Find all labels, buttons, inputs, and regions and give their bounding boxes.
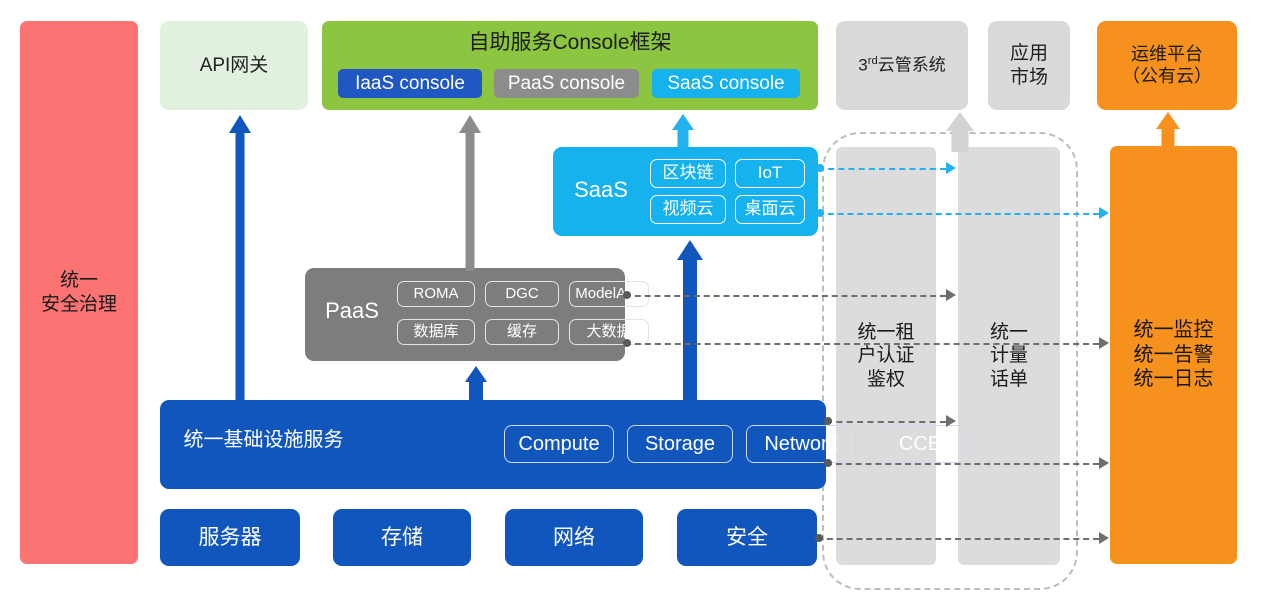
- paas-item-modelarts[interactable]: ModelArts: [569, 281, 649, 307]
- connector-arrowhead: [1099, 532, 1109, 544]
- paas-block-label: PaaS: [315, 298, 389, 325]
- arrow-ops-platform-up: [1156, 112, 1180, 148]
- connector-dot: [824, 417, 832, 425]
- infra-item-compute[interactable]: Compute: [504, 425, 614, 463]
- connector-dot: [816, 164, 824, 172]
- saas-item-iot[interactable]: IoT: [735, 159, 805, 188]
- arrow-shared-to-third-party: [946, 112, 974, 152]
- self-service-console-frame: 自助服务Console框架 IaaS console PaaS console …: [322, 21, 818, 110]
- saas-block-label: SaaS: [565, 177, 637, 204]
- dashed-saas-to-metering: [818, 168, 946, 170]
- unified-security-governance-panel: 统一 安全治理: [20, 21, 138, 564]
- resource-box-network[interactable]: 网络: [505, 509, 643, 566]
- iaas-console-chip[interactable]: IaaS console: [338, 69, 482, 98]
- arrow-saas-to-console: [671, 114, 695, 150]
- resource-box-server[interactable]: 服务器: [160, 509, 300, 566]
- saas-block: SaaS 区块链 IoT 视频云 桌面云: [553, 147, 818, 236]
- app-market-label: 应用 市场: [1010, 42, 1048, 88]
- connector-arrowhead: [946, 162, 956, 174]
- architecture-diagram: 统一 安全治理 API网关 自助服务Console框架 IaaS console…: [0, 0, 1265, 605]
- connector-arrowhead: [946, 415, 956, 427]
- api-gateway-box: API网关: [160, 21, 308, 110]
- connector-dot: [816, 209, 824, 217]
- unified-infrastructure-label: 统一基础设施服务: [176, 428, 351, 452]
- saas-item-desktop-cloud[interactable]: 桌面云: [735, 195, 805, 224]
- ops-platform-box: 运维平台 （公有云）: [1097, 21, 1237, 110]
- unified-monitoring-label: 统一监控 统一告警 统一日志: [1134, 318, 1214, 391]
- ops-platform-label: 运维平台 （公有云）: [1122, 44, 1212, 88]
- arrow-infra-to-api-gateway: [228, 115, 252, 403]
- dashed-paas-to-auth: [625, 295, 946, 297]
- infra-item-cce[interactable]: CCE: [869, 425, 971, 463]
- resource-box-security[interactable]: 安全: [677, 509, 817, 566]
- connector-dot: [815, 534, 823, 542]
- dashed-resources-to-ops: [817, 538, 1099, 540]
- third-party-cloud-mgmt-label: 3rd云管系统: [858, 55, 945, 76]
- paas-item-cache[interactable]: 缓存: [485, 319, 559, 345]
- saas-item-blockchain[interactable]: 区块链: [650, 159, 726, 188]
- arrow-infra-to-paas: [464, 366, 488, 402]
- unified-monitoring-panel: 统一监控 统一告警 统一日志: [1110, 146, 1237, 564]
- saas-console-chip[interactable]: SaaS console: [652, 69, 800, 98]
- connector-arrowhead: [946, 289, 956, 301]
- infra-item-storage[interactable]: Storage: [627, 425, 733, 463]
- paas-item-dgc[interactable]: DGC: [485, 281, 559, 307]
- connector-dot: [623, 339, 631, 347]
- console-frame-title: 自助服务Console框架: [322, 30, 818, 56]
- paas-item-roma[interactable]: ROMA: [397, 281, 475, 307]
- resource-box-storage[interactable]: 存储: [333, 509, 471, 566]
- unified-metering-billing-column: 统一 计量 话单: [958, 147, 1060, 565]
- dashed-infra-to-ops: [826, 463, 1099, 465]
- app-market-box: 应用 市场: [988, 21, 1070, 110]
- arrow-infra-to-saas: [677, 240, 703, 402]
- ordinal-superscript: rd: [868, 55, 878, 67]
- dashed-paas-to-ops: [625, 343, 1099, 345]
- api-gateway-label: API网关: [200, 54, 269, 77]
- connector-dot: [824, 459, 832, 467]
- unified-infrastructure-bar: 统一基础设施服务 Compute Storage Network CCE: [160, 400, 826, 489]
- paas-item-database[interactable]: 数据库: [397, 319, 475, 345]
- unified-security-governance-label: 统一 安全治理: [41, 269, 117, 315]
- connector-arrowhead: [1099, 457, 1109, 469]
- connector-arrowhead: [1099, 207, 1109, 219]
- arrow-paas-to-console: [458, 115, 482, 271]
- connector-dot: [623, 291, 631, 299]
- paas-block: PaaS ROMA DGC ModelArts 数据库 缓存 大数据: [305, 268, 625, 361]
- dashed-saas-to-ops: [818, 213, 1099, 215]
- saas-item-video-cloud[interactable]: 视频云: [650, 195, 726, 224]
- unified-metering-billing-label: 统一 计量 话单: [990, 321, 1028, 391]
- connector-arrowhead: [1099, 337, 1109, 349]
- dashed-infra-to-auth: [826, 421, 946, 423]
- paas-console-chip[interactable]: PaaS console: [494, 69, 639, 98]
- paas-item-bigdata[interactable]: 大数据: [569, 319, 649, 345]
- unified-tenant-auth-label: 统一租 户认证 鉴权: [857, 321, 914, 391]
- infra-item-network[interactable]: Network: [746, 425, 856, 463]
- unified-tenant-auth-column: 统一租 户认证 鉴权: [836, 147, 936, 565]
- third-party-cloud-mgmt-box: 3rd云管系统: [836, 21, 968, 110]
